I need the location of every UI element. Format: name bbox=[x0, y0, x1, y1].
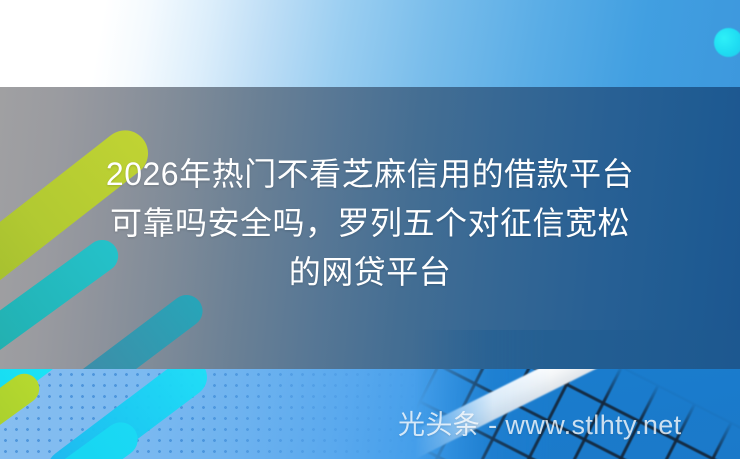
watermark-text: 光头条 - www.stlhty.net bbox=[398, 410, 682, 440]
cyan-circle-accent-icon bbox=[714, 28, 740, 57]
top-gradient-band bbox=[0, 0, 740, 87]
banner-image: 2026年热门不看芝麻信用的借款平台 可靠吗安全吗，罗列五个对征信宽松 的网贷平… bbox=[0, 0, 740, 459]
net-photo-top-mask bbox=[415, 330, 740, 369]
page-title: 2026年热门不看芝麻信用的借款平台 可靠吗安全吗，罗列五个对征信宽松 的网贷平… bbox=[0, 150, 740, 297]
